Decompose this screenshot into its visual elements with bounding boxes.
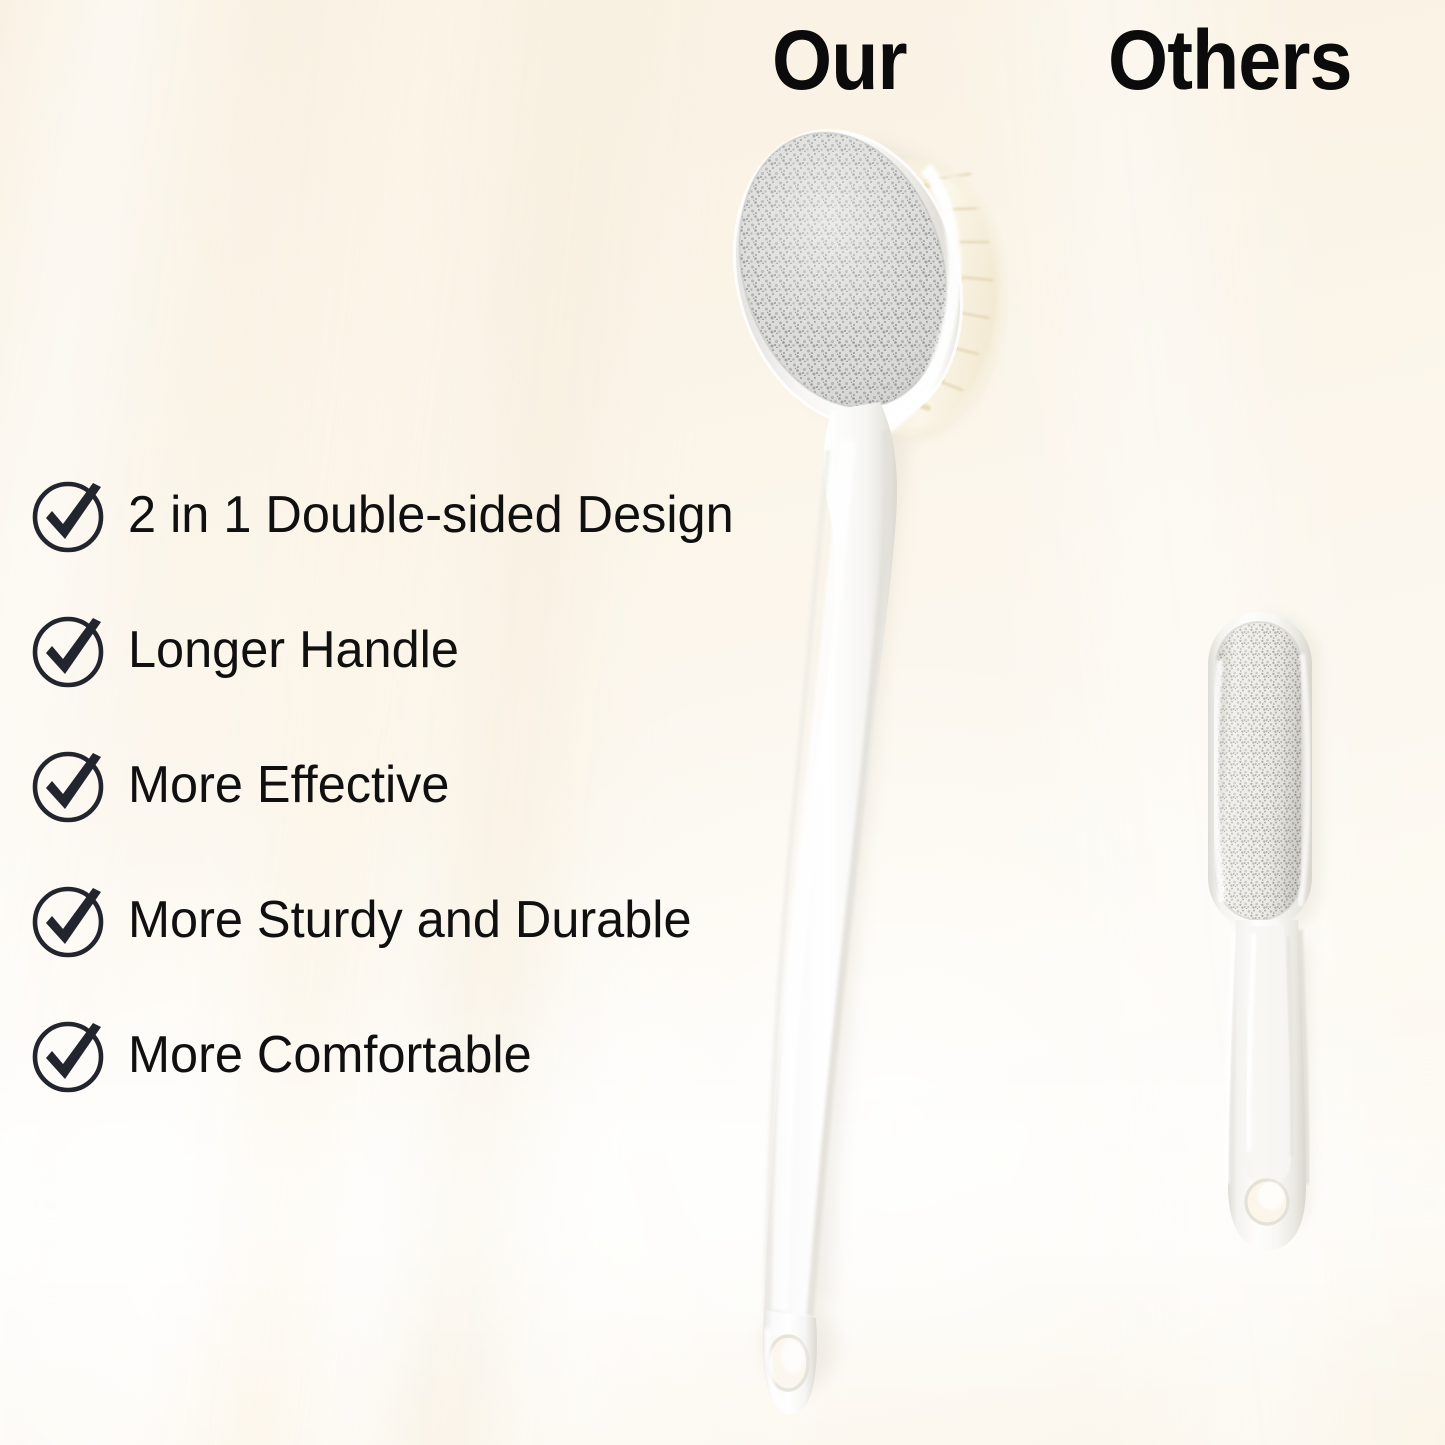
list-item: 2 in 1 Double-sided Design	[30, 481, 790, 549]
check-circle-icon	[30, 477, 106, 553]
list-item: Longer Handle	[30, 616, 790, 684]
list-item: More Effective	[30, 751, 790, 819]
product-others	[1170, 590, 1390, 1280]
product-comparison-image: Our Others 2 in 1 Double-sided Design Lo…	[0, 0, 1445, 1445]
check-circle-icon	[30, 1017, 106, 1093]
feature-label: More Sturdy and Durable	[128, 894, 692, 946]
feature-label: 2 in 1 Double-sided Design	[128, 489, 734, 541]
column-header-ours: Our	[772, 18, 907, 102]
check-circle-icon	[30, 747, 106, 823]
list-item: More Comfortable	[30, 1021, 790, 1089]
list-item: More Sturdy and Durable	[30, 886, 790, 954]
pumice-stone-pad	[1216, 622, 1302, 920]
check-circle-icon	[30, 882, 106, 958]
check-circle-icon	[30, 612, 106, 688]
feature-label: More Effective	[128, 759, 449, 811]
feature-label: More Comfortable	[128, 1029, 532, 1081]
feature-list: 2 in 1 Double-sided Design Longer Handle…	[30, 481, 790, 1089]
product-ours	[680, 110, 1100, 1440]
feature-label: Longer Handle	[128, 624, 459, 676]
column-header-others: Others	[1108, 18, 1352, 102]
